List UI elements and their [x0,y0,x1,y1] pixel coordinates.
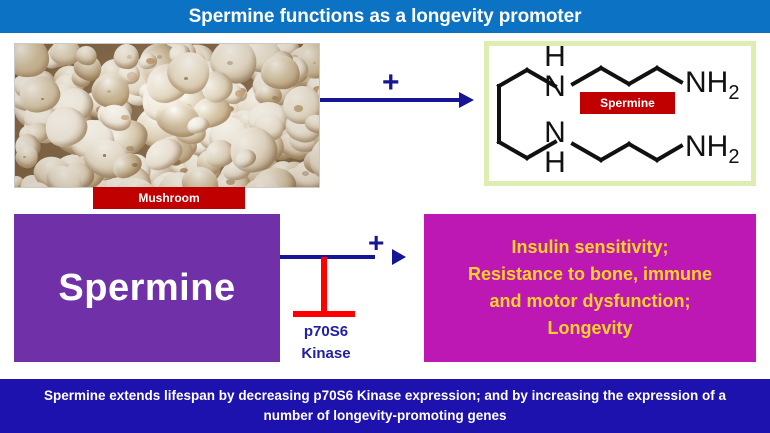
atom-label-n-bottom: N [544,116,566,149]
spermine-compound-chip: Spermine [580,92,675,114]
spermine-to-outcome-connector: + p70S6 Kinase [280,225,425,365]
atom-label-h-bottom: H [544,146,566,179]
plus-icon: + [368,229,384,257]
footer-bar: Spermine extends lifespan by decreasing … [0,379,770,433]
atom-label-h-top: H [544,46,566,73]
outcome-line: Resistance to bone, immune [435,261,745,288]
mushroom-blemish [132,163,138,167]
inhibition-stem-icon [321,257,327,317]
arrow-shaft [280,255,375,259]
mushroom-blemish [107,90,111,93]
outcome-box: Insulin sensitivity; Resistance to bone,… [424,214,756,362]
inhibition-bar-icon [293,311,355,317]
p70s6-kinase-label-line2: Kinase [276,343,376,365]
header-bar: Spermine functions as a longevity promot… [0,0,770,33]
mushroom-label-badge: Mushroom [93,187,245,209]
mushroom-blemish [127,72,138,80]
spermine-agent-box: Spermine [14,214,280,362]
mushroom-blemish [303,187,310,188]
spermine-compound-chip-text: Spermine [600,96,655,110]
mushroom-photo [14,43,320,188]
mushroom-blemish [146,58,155,64]
mushroom-blemish [300,187,305,188]
p70s6-kinase-label: p70S6 Kinase [276,321,376,365]
mushroom-label-text: Mushroom [138,191,199,205]
mushroom-blemish [302,171,309,176]
mushroom-blemish [121,115,129,121]
p70s6-kinase-label-line1: p70S6 [276,321,376,343]
plus-icon: + [382,68,400,98]
mushroom-blemish [235,90,245,97]
mushroom-to-spermine-arrow: + [320,70,480,115]
outcome-text: Insulin sensitivity; Resistance to bone,… [435,234,745,342]
outcome-line: and motor dysfunction; [435,288,745,315]
mushroom-blemish [184,77,188,80]
outcome-line: Insulin sensitivity; [435,234,745,261]
mushroom-blemish [126,146,133,151]
spermine-agent-label: Spermine [58,267,235,310]
mushroom-blemish [41,98,44,100]
arrow-head-icon [392,249,406,265]
atom-label-n-top: N [544,70,566,103]
page-title: Spermine functions as a longevity promot… [189,6,582,28]
atom-label-nh2-top: NH2 [685,66,739,104]
arrow-head-icon [459,92,474,108]
mushroom-blemish [294,105,304,112]
atom-label-nh2-bottom: NH2 [685,130,739,168]
mushroom-blemish [157,55,162,59]
outcome-line: Longevity [435,315,745,342]
footer-text: Spermine extends lifespan by decreasing … [25,386,745,425]
